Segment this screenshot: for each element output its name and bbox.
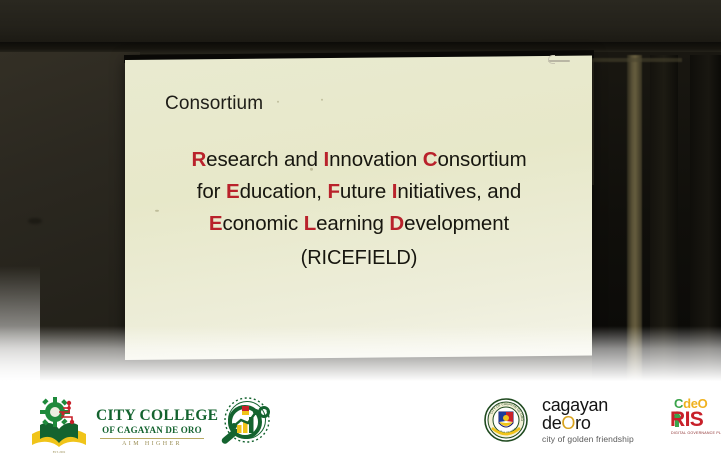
city-college-wordmark: CITY COLLEGE OF CAGAYAN DE ORO AIM HIGHE… (96, 402, 208, 448)
slide-heading: Consortium (165, 93, 263, 115)
slide-line: for Education, Future Initiatives, and (143, 176, 575, 208)
slide-text: ducation, (240, 180, 328, 203)
slide-text: nnovation (329, 148, 423, 171)
slide-accent-letter: F (327, 180, 339, 203)
slide-accent-letter: E (209, 212, 223, 235)
slide-accent-letter: R (191, 148, 206, 171)
slide-text: evelopment (404, 212, 509, 235)
photo-region: Consortium Research and Innovation Conso… (0, 0, 721, 386)
cagayan-de-oro-seal-icon: CITY OF CAGAYAN DE ORO PHILIPPINES (484, 398, 528, 442)
slide-body: Research and Innovation Consortium for E… (143, 144, 575, 274)
cdo-de: de (542, 413, 561, 433)
logo-group-left: EST. 2002 CITY COLLEGE OF CAGAYAN DE ORO… (28, 394, 274, 456)
cdo-line-2: deOro (542, 414, 654, 433)
screen-speck (321, 99, 323, 101)
screenshot-root: Consortium Research and Innovation Conso… (0, 0, 721, 472)
slide-text: esearch and (206, 148, 323, 171)
cdo-line-1: cagayan (542, 396, 654, 414)
slide-text: for (197, 180, 226, 203)
cdo-ro: ro (575, 413, 590, 433)
photo-bottom-fade-left (0, 266, 40, 386)
cabinet-edge (592, 60, 626, 185)
ris-wordmark: RIS (670, 408, 703, 432)
slide-line: Research and Innovation Consortium (143, 144, 575, 176)
cdo-tagline: city of golden friendship (542, 434, 654, 444)
cagayan-de-oro-wordmark: cagayan deOro city of golden friendship (542, 396, 654, 444)
logo-group-right: CITY OF CAGAYAN DE ORO PHILIPPINES cagay… (484, 396, 721, 444)
slide-text: onsortium (437, 148, 526, 171)
slide-accent-letter: L (304, 212, 316, 235)
city-college-subtitle: OF CAGAYAN DE ORO (96, 424, 208, 436)
slide-text: uture (340, 180, 392, 203)
screen-speck (277, 101, 279, 103)
slide-acronym: (RICEFIELD) (143, 242, 575, 274)
ricefield-magnifier-icon (214, 395, 274, 455)
slide-accent-letter: E (226, 180, 240, 203)
logo-bar: EST. 2002 CITY COLLEGE OF CAGAYAN DE ORO… (0, 386, 721, 472)
slide-accent-letter: C (423, 148, 438, 171)
svg-text:EST. 2002: EST. 2002 (53, 450, 66, 454)
photo-bottom-fade (0, 326, 721, 386)
ris-tagline: DIGITAL GOVERNANCE PLATFORM (671, 431, 721, 435)
ceiling-wall (0, 0, 721, 46)
cdeo-ris-logo: CdeO RIS DIGITAL GOVERNANCE PLATFORM (668, 396, 721, 444)
slide-accent-letter: D (389, 212, 404, 235)
slide-line: Economic Learning Development (143, 208, 575, 240)
screen-hook-icon (548, 55, 570, 69)
city-college-title: CITY COLLEGE (96, 408, 208, 424)
city-college-tagline: AIM HIGHER (96, 441, 208, 447)
slide-text: earning (316, 212, 389, 235)
wall-blemish (28, 218, 42, 224)
cdo-o-accent: O (561, 413, 575, 433)
city-college-emblem-icon: EST. 2002 (28, 394, 90, 456)
projection-screen: Consortium Research and Innovation Conso… (125, 56, 592, 360)
slide-text: nitiatives, and (397, 180, 521, 203)
divider (100, 438, 204, 439)
slide-text: conomic (222, 212, 303, 235)
